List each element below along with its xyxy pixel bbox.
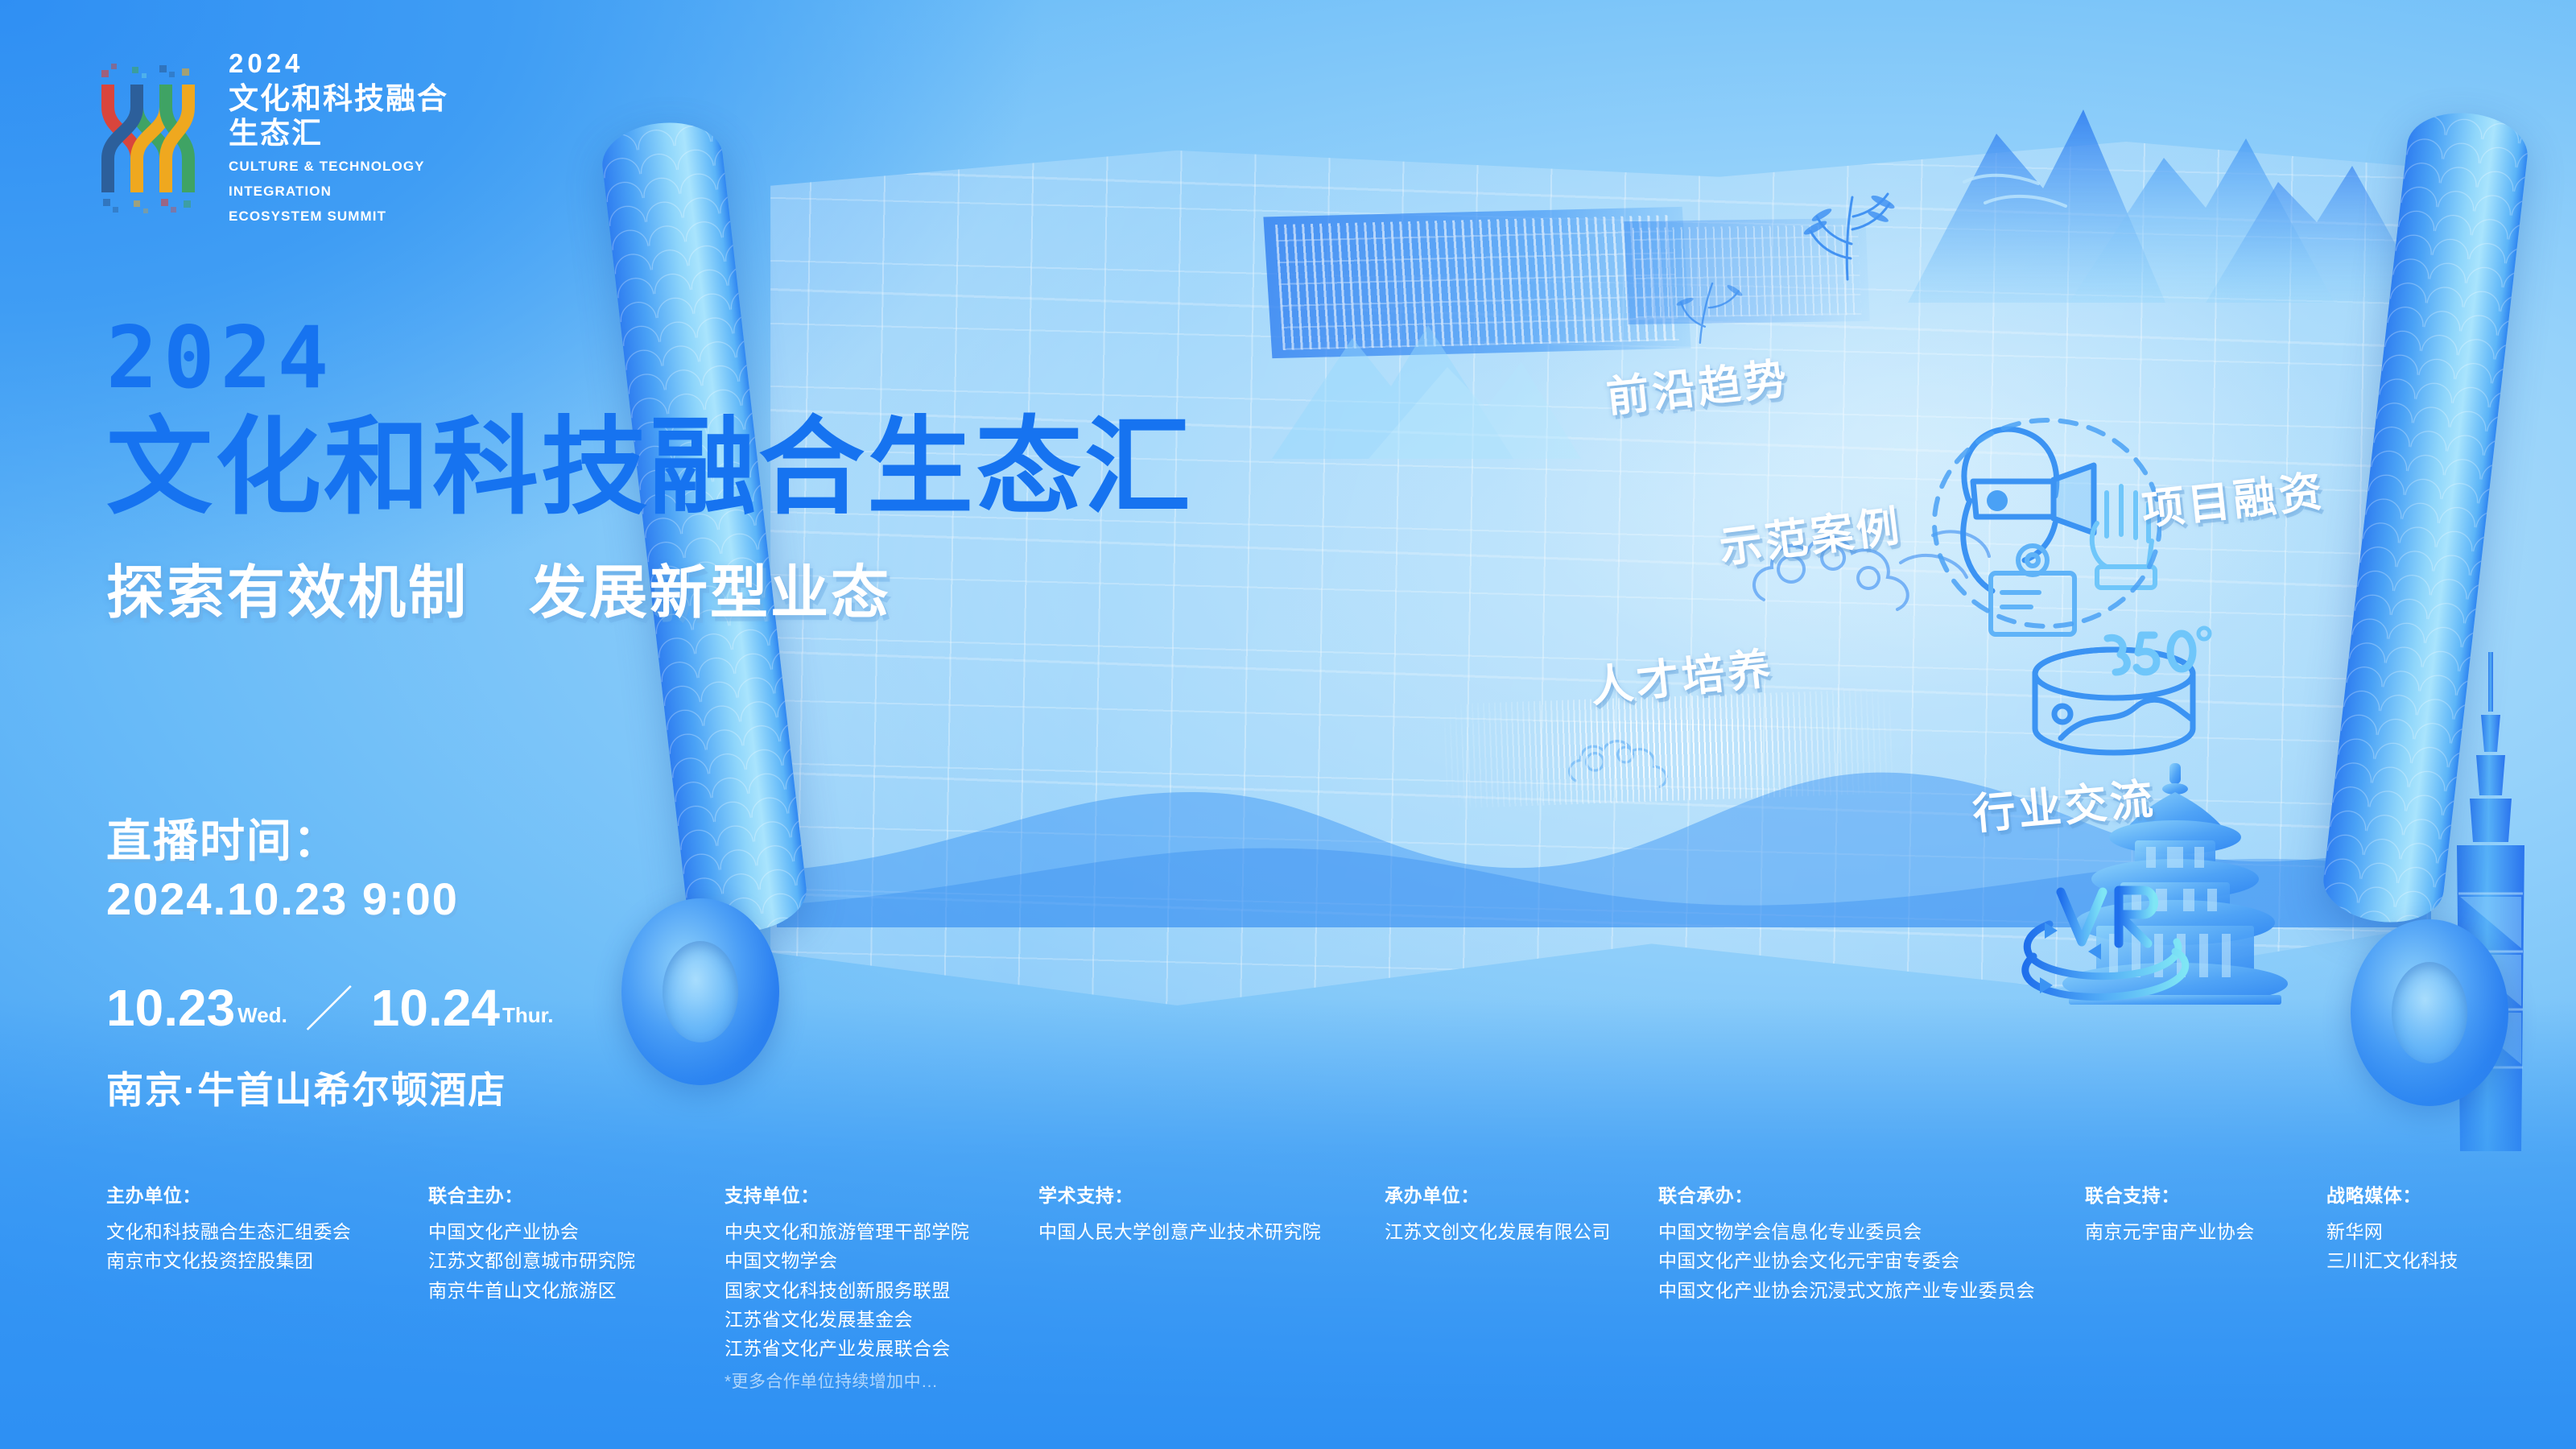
- footer-item: 国家文化科技创新服务联盟: [724, 1276, 1071, 1305]
- date-second-weekday: Thur.: [502, 1003, 554, 1028]
- footer-list: 中央文化和旅游管理干部学院 中国文物学会 国家文化科技创新服务联盟 江苏省文化发…: [724, 1217, 1071, 1364]
- footer-item: 中国文物学会信息化专业委员会: [1658, 1217, 2077, 1246]
- footer-item: 南京元宇宙产业协会: [2085, 1217, 2326, 1246]
- livestream-label: 直播时间：: [106, 813, 459, 870]
- event-dates: 10.23 Wed. ／ 10.24 Thur.: [106, 984, 554, 1033]
- footer-item: 中国文化产业协会沉浸式文旅产业专业委员会: [1658, 1276, 2077, 1305]
- footer-heading: 联合主办：: [428, 1180, 750, 1207]
- poster-canvas: 前沿趋势 示范案例 项目融资 人才培养 行业交流: [0, 0, 2576, 1449]
- logo-cn-line-2: 生态汇: [229, 116, 448, 151]
- footer-item: 新华网: [2326, 1217, 2552, 1246]
- headline-subtitle: 探索有效机制 发展新型业态: [106, 545, 1193, 630]
- logo-en-line-3: ECOSYSTEM SUMMIT: [229, 207, 448, 226]
- dna-ribbon-logo-icon: [89, 57, 208, 218]
- page-title: 文化和科技融合生态汇: [106, 411, 1193, 526]
- footer-item: 中央文化和旅游管理干部学院: [724, 1217, 1071, 1246]
- footer-heading: 支持单位：: [724, 1180, 1071, 1207]
- footer-item: 江苏省文化产业发展联合会: [724, 1334, 1071, 1363]
- footer-partners: 主办单位： 文化和科技融合生态汇组委会 南京市文化投资控股集团 联合主办： 中国…: [0, 1166, 2576, 1449]
- footer-column-coorganizer: 联合承办： 中国文物学会信息化专业委员会 中国文化产业协会文化元宇宙专委会 中国…: [1658, 1180, 2077, 1305]
- date-first-weekday: Wed.: [237, 1003, 287, 1028]
- footer-list: 南京元宇宙产业协会: [2085, 1217, 2326, 1246]
- footer-column-support: 支持单位： 中央文化和旅游管理干部学院 中国文物学会 国家文化科技创新服务联盟 …: [724, 1180, 1071, 1393]
- footer-note: *更多合作单位持续增加中…: [724, 1368, 1071, 1393]
- panorama-360-icon: [2013, 624, 2214, 769]
- headline-block: 2024 文化和科技融合生态汇 探索有效机制 发展新型业态: [106, 316, 1193, 630]
- logo-cn-line-1: 文化和科技融合: [229, 81, 448, 116]
- footer-column-cohost: 联合主办： 中国文化产业协会 江苏文都创意城市研究院 南京牛首山文化旅游区: [428, 1180, 750, 1305]
- footer-list: 中国人民大学创意产业技术研究院: [1038, 1217, 1401, 1246]
- footer-list: 文化和科技融合生态汇组委会 南京市文化投资控股集团: [106, 1217, 428, 1276]
- logo-text-block: 2024 文化和科技融合 生态汇 CULTURE & TECHNOLOGY IN…: [229, 50, 448, 226]
- footer-item: 南京市文化投资控股集团: [106, 1246, 428, 1275]
- headline-year: 2024: [106, 316, 1193, 401]
- footer-item: 中国文物学会: [724, 1246, 1071, 1275]
- footer-item: 南京牛首山文化旅游区: [428, 1276, 750, 1305]
- footer-heading: 主办单位：: [106, 1180, 428, 1207]
- footer-list: 新华网 三川汇文化科技: [2326, 1217, 2552, 1276]
- footer-columns: 主办单位： 文化和科技融合生态汇组委会 南京市文化投资控股集团 联合主办： 中国…: [0, 1166, 2576, 1449]
- mountain-range-graphic-secondary: [1256, 290, 1594, 467]
- footer-heading: 联合支持：: [2085, 1180, 2326, 1207]
- footer-item: 江苏省文化发展基金会: [724, 1305, 1071, 1334]
- footer-item: 中国文化产业协会: [428, 1217, 750, 1246]
- footer-heading: 联合承办：: [1658, 1180, 2077, 1207]
- footer-column-academic: 学术支持： 中国人民大学创意产业技术研究院: [1038, 1180, 1401, 1246]
- date-separator: ／: [305, 987, 353, 1033]
- livestream-time: 2024.10.23 9:00: [106, 870, 459, 929]
- logo-year: 2024: [229, 50, 448, 76]
- date-second-number: 10.24: [371, 984, 500, 1033]
- footer-heading: 战略媒体：: [2326, 1180, 2552, 1207]
- footer-column-host: 主办单位： 文化和科技融合生态汇组委会 南京市文化投资控股集团: [106, 1180, 428, 1276]
- footer-item: 中国人民大学创意产业技术研究院: [1038, 1217, 1401, 1246]
- footer-list: 中国文化产业协会 江苏文都创意城市研究院 南京牛首山文化旅游区: [428, 1217, 750, 1305]
- footer-heading: 学术支持：: [1038, 1180, 1401, 1207]
- logo-en-line-1: CULTURE & TECHNOLOGY: [229, 157, 448, 176]
- logo-en-line-2: INTEGRATION: [229, 182, 448, 201]
- footer-column-media: 战略媒体： 新华网 三川汇文化科技: [2326, 1180, 2552, 1276]
- footer-column-joint-support: 联合支持： 南京元宇宙产业协会: [2085, 1180, 2326, 1246]
- livestream-block: 直播时间： 2024.10.23 9:00: [106, 813, 459, 928]
- footer-item: 江苏文都创意城市研究院: [428, 1246, 750, 1275]
- footer-item: 三川汇文化科技: [2326, 1246, 2552, 1275]
- date-first-number: 10.23: [106, 984, 235, 1033]
- mountain-range-graphic: [1827, 61, 2439, 327]
- venue-label: 南京·牛首山希尔顿酒店: [106, 1061, 506, 1114]
- footer-list: 中国文物学会信息化专业委员会 中国文化产业协会文化元宇宙专委会 中国文化产业协会…: [1658, 1217, 2077, 1305]
- footer-item: 文化和科技融合生态汇组委会: [106, 1217, 428, 1246]
- bamboo-icon-secondary: [1660, 266, 1753, 354]
- event-logo: 2024 文化和科技融合 生态汇 CULTURE & TECHNOLOGY IN…: [89, 50, 448, 226]
- vr-headset-icon: [1896, 402, 2161, 644]
- footer-item: 中国文化产业协会文化元宇宙专委会: [1658, 1246, 2077, 1275]
